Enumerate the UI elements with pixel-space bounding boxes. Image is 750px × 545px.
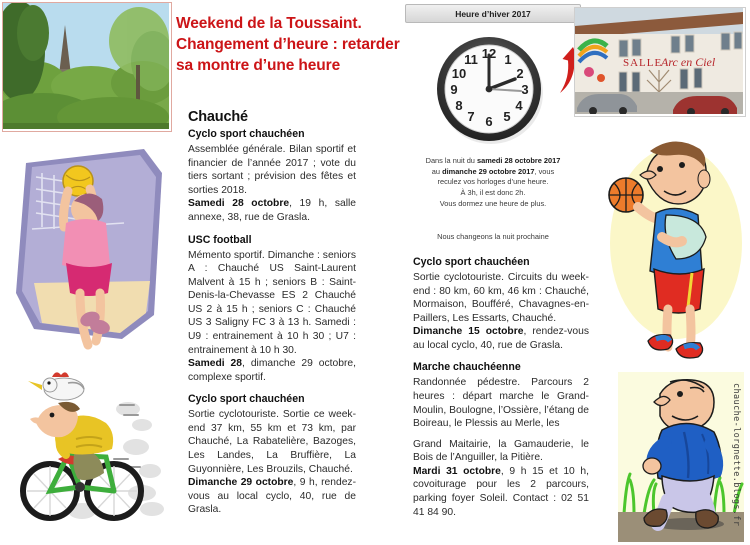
- clock-caption-line-2: au dimanche 29 octobre 2017, vous: [405, 167, 581, 178]
- section-gap: [413, 352, 589, 361]
- analog-clock-icon: 12 1 2 3 4 5 6 7 8 9 10 11: [433, 33, 545, 145]
- section-date: Mardi 31 octobre, 9 h 15 et 10 h, covoit…: [413, 465, 589, 519]
- section-date: Dimanche 29 octobre, 9 h, rendez-vous au…: [188, 476, 356, 517]
- clock-caption-line-4: À 3h, il est donc 2h.: [405, 188, 581, 199]
- clock-caption: Dans la nuit du samedi 28 octobre 2017 a…: [405, 156, 581, 210]
- svg-text:SALLE: SALLE: [623, 57, 662, 69]
- section-gap: [188, 384, 356, 393]
- svg-text:8: 8: [455, 98, 462, 113]
- page-root: Weekend de la Toussaint. Changement d’he…: [0, 0, 750, 545]
- article-section: Marche chauchéenne Randonnée pédestre. P…: [413, 361, 589, 519]
- section-body: Mémento sportif. Dimanche : seniors A : …: [188, 249, 356, 358]
- clock-caption-line-1: Dans la nuit du samedi 28 octobre 2017: [405, 156, 581, 167]
- section-body: Sortie cyclotouriste. Circuits du week-e…: [413, 271, 589, 325]
- left-article-column: Chauché Cyclo sport chauchéen Assemblée …: [188, 108, 356, 517]
- svg-text:4: 4: [515, 98, 523, 113]
- page-headline: Weekend de la Toussaint. Changement d’he…: [176, 14, 426, 77]
- clock-panel: Heure d’hiver 2017 12 1 2: [405, 4, 581, 241]
- article-section: USC football Mémento sportif. Dimanche :…: [188, 234, 356, 385]
- section-title: Cyclo sport chauchéen: [188, 393, 356, 407]
- section-date: Samedi 28 octobre, 19 h, salle annexe, 3…: [188, 197, 356, 224]
- article-section: Cyclo sport chauchéen Sortie cyclotouris…: [413, 256, 589, 352]
- salle-arc-en-ciel-photo: SALLE Arc en Ciel: [574, 7, 746, 117]
- headline-line-1: Weekend de la Toussaint.: [176, 14, 426, 35]
- walking-man-illustration: [618, 372, 744, 542]
- section-body-continued: Grand Maitairie, la Gamauderie, le Bois …: [413, 438, 589, 465]
- section-title: USC football: [188, 234, 356, 248]
- section-body: Randonnée pédestre. Parcours 2 heures : …: [413, 376, 589, 430]
- svg-text:10: 10: [452, 66, 466, 81]
- clock-caption-line-5: Vous dormez une heure de plus.: [405, 199, 581, 210]
- clock-illustration: 12 1 2 3 4 5 6 7 8 9 10 11: [405, 29, 581, 149]
- svg-text:11: 11: [464, 52, 478, 67]
- town-title: Chauché: [188, 108, 356, 127]
- headline-line-3: sa montre d’une heure: [176, 56, 426, 77]
- section-date: Dimanche 15 octobre, rendez-vous au loca…: [413, 325, 589, 352]
- article-section: Cyclo sport chauchéen Sortie cyclotouris…: [188, 393, 356, 517]
- section-title: Cyclo sport chauchéen: [413, 256, 589, 270]
- svg-text:2: 2: [516, 66, 523, 81]
- section-body: Sortie cyclotouriste. Sortie ce week-end…: [188, 408, 356, 476]
- section-title: Cyclo sport chauchéen: [188, 128, 356, 142]
- site-watermark: chauche-lorgnette.blogs.fr: [727, 383, 741, 543]
- cyclist-illustration: [2, 363, 178, 543]
- svg-text:3: 3: [521, 82, 528, 97]
- landscape-photo: [2, 2, 172, 132]
- clock-panel-header: Heure d’hiver 2017: [405, 4, 581, 23]
- svg-text:1: 1: [504, 52, 511, 67]
- clock-note: Nous changeons la nuit prochaine: [405, 232, 581, 241]
- clock-caption-line-3: reculez vos horloges d’une heure.: [405, 177, 581, 188]
- headline-line-2: Changement d’heure : retarder: [176, 35, 426, 56]
- svg-text:9: 9: [450, 82, 457, 97]
- section-body: Assemblée générale. Bilan sportif et fin…: [188, 143, 356, 197]
- section-date: Samedi 28, dimanche 29 octobre, complexe…: [188, 357, 356, 384]
- section-gap: [188, 225, 356, 234]
- svg-text:6: 6: [485, 114, 492, 129]
- svg-text:Arc en Ciel: Arc en Ciel: [660, 55, 716, 69]
- basketball-player-illustration: [604, 133, 746, 369]
- svg-text:7: 7: [467, 109, 474, 124]
- right-article-column: Cyclo sport chauchéen Sortie cyclotouris…: [413, 256, 589, 519]
- volleyball-player-illustration: [4, 143, 174, 355]
- article-section: Cyclo sport chauchéen Assemblée générale…: [188, 128, 356, 224]
- section-title: Marche chauchéenne: [413, 361, 589, 375]
- svg-text:5: 5: [503, 109, 510, 124]
